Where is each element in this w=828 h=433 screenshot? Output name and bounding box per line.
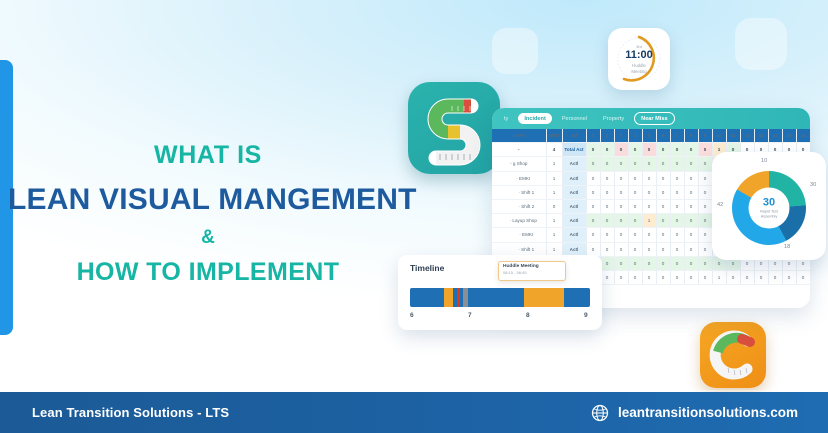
decorative-square — [492, 28, 538, 74]
headline-line-1: WHAT IS — [8, 142, 408, 170]
data-cell[interactable]: 0 — [642, 270, 656, 284]
data-cell[interactable]: 0 — [642, 185, 656, 199]
data-cell[interactable]: 0 — [670, 157, 684, 171]
huddle-clock-widget[interactable]: 3rd 11:00 HuddleMeeting — [608, 28, 670, 90]
data-cell[interactable]: 0 — [600, 270, 614, 284]
spreadsheet-tab-bar[interactable]: tyIncidentPersonnelPropertyNear Miss — [492, 108, 810, 129]
column-header-16[interactable]: 14 — [768, 129, 782, 143]
data-cell[interactable]: 0 — [628, 143, 642, 157]
donut-chart: 30 Rapid TestAssembly — [732, 171, 806, 245]
data-cell[interactable]: 0 — [586, 228, 600, 242]
data-cell[interactable]: 0 — [740, 270, 754, 284]
data-cell[interactable]: 0 — [628, 199, 642, 213]
data-cell[interactable]: 0 — [684, 199, 698, 213]
timeline-card[interactable]: Timeline 6789 Huddle Meeting 08:15 - 08:… — [398, 255, 602, 330]
data-cell[interactable]: 0 — [684, 214, 698, 228]
timeline-axis: 6789 — [410, 312, 590, 323]
timeline-tick-6: 6 — [410, 312, 414, 319]
headline-ampersand: & — [8, 228, 408, 247]
spreadsheet-tab-near-miss[interactable]: Near Miss — [634, 112, 674, 125]
timeline-tooltip: Huddle Meeting 08:15 - 08:45 — [498, 261, 566, 281]
spreadsheet-tab-ty[interactable]: ty — [498, 113, 514, 124]
data-cell[interactable]: 0 — [670, 228, 684, 242]
row-label: - g Shop — [492, 157, 546, 171]
data-cell[interactable]: 0 — [684, 171, 698, 185]
data-cell[interactable]: 0 — [586, 171, 600, 185]
data-cell[interactable]: 0 — [670, 143, 684, 157]
timeline-segment-6[interactable] — [468, 288, 524, 307]
row-actual-cell: Actl — [562, 157, 586, 171]
s-ruler-app-icon — [408, 82, 500, 174]
column-header-10[interactable]: 8 — [684, 129, 698, 143]
footer-bar: Lean Transition Solutions - LTS leantran… — [0, 392, 828, 433]
column-header-11[interactable]: 9 — [698, 129, 712, 143]
data-cell[interactable]: 0 — [628, 228, 642, 242]
row-actual-cell: Actl — [562, 214, 586, 228]
data-cell[interactable]: 0 — [642, 256, 656, 270]
column-header-2[interactable]: Jul — [562, 129, 586, 143]
row-label: · Shift 2 — [492, 199, 546, 213]
data-cell[interactable]: 0 — [684, 270, 698, 284]
row-mtd: 1 — [546, 214, 562, 228]
data-cell[interactable]: 0 — [670, 256, 684, 270]
timeline-segment-0[interactable] — [410, 288, 444, 307]
data-cell[interactable]: 0 — [586, 157, 600, 171]
data-cell[interactable]: 0 — [698, 199, 712, 213]
data-cell[interactable]: 0 — [628, 157, 642, 171]
column-header-7[interactable]: 5 — [642, 129, 656, 143]
data-cell[interactable]: 0 — [698, 157, 712, 171]
data-cell[interactable]: 0 — [684, 256, 698, 270]
data-cell[interactable]: 0 — [642, 242, 656, 256]
data-cell[interactable]: 0 — [698, 256, 712, 270]
data-cell[interactable]: 0 — [782, 270, 796, 284]
data-cell[interactable]: 0 — [684, 157, 698, 171]
data-cell[interactable]: 0 — [684, 242, 698, 256]
data-cell[interactable]: 0 — [600, 228, 614, 242]
data-cell[interactable]: 0 — [698, 185, 712, 199]
data-cell[interactable]: 0 — [628, 270, 642, 284]
data-cell[interactable]: 0 — [656, 143, 670, 157]
poster-canvas: WHAT IS LEAN VISUAL MANGEMENT & HOW TO I… — [0, 0, 828, 433]
c-ruler-app-icon — [700, 322, 766, 388]
data-cell[interactable]: 0 — [614, 143, 628, 157]
donut-center: 30 Rapid TestAssembly — [749, 188, 790, 229]
data-cell[interactable]: 0 — [586, 143, 600, 157]
data-cell[interactable]: 0 — [628, 214, 642, 228]
data-cell[interactable]: 0 — [614, 228, 628, 242]
data-cell[interactable]: 0 — [656, 270, 670, 284]
data-cell[interactable]: 0 — [754, 270, 768, 284]
data-cell[interactable]: 0 — [656, 157, 670, 171]
clock-time: 11:00 — [625, 50, 653, 61]
data-cell[interactable]: 0 — [600, 171, 614, 185]
headline-line-2: LEAN VISUAL MANGEMENT — [8, 183, 408, 218]
data-cell[interactable]: 0 — [614, 270, 628, 284]
row-label: · Layup Shop — [492, 214, 546, 228]
data-cell[interactable]: 0 — [698, 270, 712, 284]
data-cell[interactable]: 0 — [726, 270, 740, 284]
column-header-13[interactable]: 11 — [726, 129, 740, 143]
data-cell[interactable]: 0 — [600, 256, 614, 270]
row-actual-cell: Total Act — [562, 143, 586, 157]
data-cell[interactable]: 0 — [768, 270, 782, 284]
row-mtd: 4 — [546, 143, 562, 157]
headline-line-3: HOW TO IMPLEMENT — [8, 259, 408, 287]
row-label: · EMKI — [492, 228, 546, 242]
data-cell[interactable]: 0 — [670, 171, 684, 185]
timeline-tick-7: 7 — [468, 312, 472, 319]
footer-website-url[interactable]: leantransitionsolutions.com — [618, 405, 798, 420]
row-actual-cell: Actl — [562, 185, 586, 199]
column-header-4[interactable]: 2 — [600, 129, 614, 143]
column-header-0[interactable]: Level — [492, 129, 546, 143]
timeline-segment-7[interactable] — [524, 288, 564, 307]
data-cell[interactable]: 0 — [698, 228, 712, 242]
data-cell[interactable]: 0 — [670, 242, 684, 256]
donut-label-42: 42 — [717, 202, 723, 208]
data-cell[interactable]: 0 — [614, 214, 628, 228]
data-cell[interactable]: 0 — [698, 143, 712, 157]
spreadsheet-tab-personnel[interactable]: Personnel — [556, 113, 593, 124]
data-cell[interactable]: 0 — [656, 214, 670, 228]
data-cell[interactable]: 0 — [600, 214, 614, 228]
column-header-12[interactable]: 10 — [712, 129, 726, 143]
donut-label-10: 10 — [761, 158, 767, 164]
data-cell[interactable]: 1 — [642, 214, 656, 228]
data-cell[interactable]: 0 — [600, 143, 614, 157]
data-cell[interactable]: 0 — [600, 185, 614, 199]
data-cell[interactable]: 0 — [656, 199, 670, 213]
column-header-17[interactable]: 15 — [782, 129, 796, 143]
data-cell[interactable]: 0 — [670, 199, 684, 213]
data-cell[interactable]: 0 — [586, 214, 600, 228]
data-cell[interactable]: 0 — [586, 199, 600, 213]
data-cell[interactable]: 0 — [628, 242, 642, 256]
timeline-bar[interactable] — [410, 288, 590, 307]
timeline-segment-8[interactable] — [564, 288, 590, 307]
data-cell[interactable]: 0 — [670, 185, 684, 199]
row-label: · Shift 1 — [492, 185, 546, 199]
row-mtd: 1 — [546, 185, 562, 199]
headline-block: WHAT IS LEAN VISUAL MANGEMENT & HOW TO I… — [8, 142, 408, 287]
data-cell[interactable]: 0 — [698, 242, 712, 256]
data-cell[interactable]: 0 — [698, 214, 712, 228]
row-mtd: 1 — [546, 157, 562, 171]
row-actual-cell: Actl — [562, 199, 586, 213]
donut-label-30: 30 — [810, 182, 816, 188]
data-cell[interactable]: 0 — [698, 171, 712, 185]
timeline-segment-1[interactable] — [444, 288, 453, 307]
data-cell[interactable]: 0 — [642, 157, 656, 171]
data-cell[interactable]: 0 — [614, 171, 628, 185]
data-cell[interactable]: 0 — [628, 171, 642, 185]
timeline-tick-8: 8 — [526, 312, 530, 319]
globe-icon — [591, 404, 609, 422]
data-cell[interactable]: 0 — [796, 270, 810, 284]
data-cell[interactable]: 0 — [656, 228, 670, 242]
decorative-square — [735, 18, 787, 70]
tooltip-time: 08:15 - 08:45 — [503, 270, 561, 275]
data-cell[interactable]: 0 — [600, 157, 614, 171]
data-cell[interactable]: 0 — [656, 185, 670, 199]
data-cell[interactable]: 0 — [670, 214, 684, 228]
row-actual-cell: Actl — [562, 228, 586, 242]
data-cell[interactable]: 1 — [712, 270, 726, 284]
row-mtd: 0 — [546, 199, 562, 213]
data-cell[interactable]: 0 — [656, 256, 670, 270]
column-header-18[interactable]: 16 — [796, 129, 810, 143]
row-mtd: 1 — [546, 171, 562, 185]
spreadsheet-tab-incident[interactable]: Incident — [518, 113, 551, 124]
data-cell[interactable]: 0 — [684, 228, 698, 242]
data-cell[interactable]: 0 — [642, 171, 656, 185]
data-cell[interactable]: 0 — [614, 157, 628, 171]
data-cell[interactable]: 0 — [642, 228, 656, 242]
column-header-14[interactable]: 12 — [740, 129, 754, 143]
donut-center-label: Rapid TestAssembly — [760, 210, 778, 219]
data-cell[interactable]: 0 — [614, 185, 628, 199]
data-cell[interactable]: 0 — [600, 242, 614, 256]
column-header-1[interactable]: MTD — [546, 129, 562, 143]
data-cell[interactable]: 0 — [670, 270, 684, 284]
data-cell[interactable]: 0 — [614, 256, 628, 270]
column-header-5[interactable]: 3 — [614, 129, 628, 143]
row-label: · EMKI — [492, 171, 546, 185]
data-cell[interactable]: 0 — [642, 143, 656, 157]
spreadsheet-tab-property[interactable]: Property — [597, 113, 630, 124]
data-cell[interactable]: 0 — [642, 199, 656, 213]
column-header-6[interactable]: 4 — [628, 129, 642, 143]
row-label: - — [492, 143, 546, 157]
column-header-9[interactable]: 7 — [670, 129, 684, 143]
clock-event-label: HuddleMeeting — [631, 63, 646, 74]
row-actual-cell: Actl — [562, 171, 586, 185]
row-mtd: 1 — [546, 228, 562, 242]
data-cell[interactable]: 0 — [614, 242, 628, 256]
data-cell[interactable]: 0 — [586, 185, 600, 199]
column-header-15[interactable]: 13 — [754, 129, 768, 143]
data-cell[interactable]: 0 — [656, 242, 670, 256]
table-header-row: LevelMTDJul1234567891011121314151617 — [492, 129, 810, 143]
data-cell[interactable]: 0 — [684, 143, 698, 157]
data-cell[interactable]: 0 — [684, 185, 698, 199]
data-cell[interactable]: 0 — [656, 171, 670, 185]
footer-website-group[interactable]: leantransitionsolutions.com — [591, 404, 798, 422]
data-cell[interactable]: 0 — [600, 199, 614, 213]
c-ruler-glyph — [700, 322, 766, 388]
data-cell[interactable]: 0 — [628, 256, 642, 270]
data-cell[interactable]: 0 — [614, 199, 628, 213]
column-header-8[interactable]: 6 — [656, 129, 670, 143]
rapid-test-assembly-donut-card[interactable]: 10 30 18 42 30 Rapid TestAssembly — [712, 152, 826, 260]
data-cell[interactable]: 0 — [628, 185, 642, 199]
timeline-tick-9: 9 — [584, 312, 588, 319]
column-header-3[interactable]: 1 — [586, 129, 600, 143]
footer-company-name: Lean Transition Solutions - LTS — [32, 405, 229, 420]
s-ruler-glyph — [408, 82, 500, 174]
timeline-title: Timeline — [410, 263, 444, 273]
donut-center-value: 30 — [763, 197, 775, 208]
